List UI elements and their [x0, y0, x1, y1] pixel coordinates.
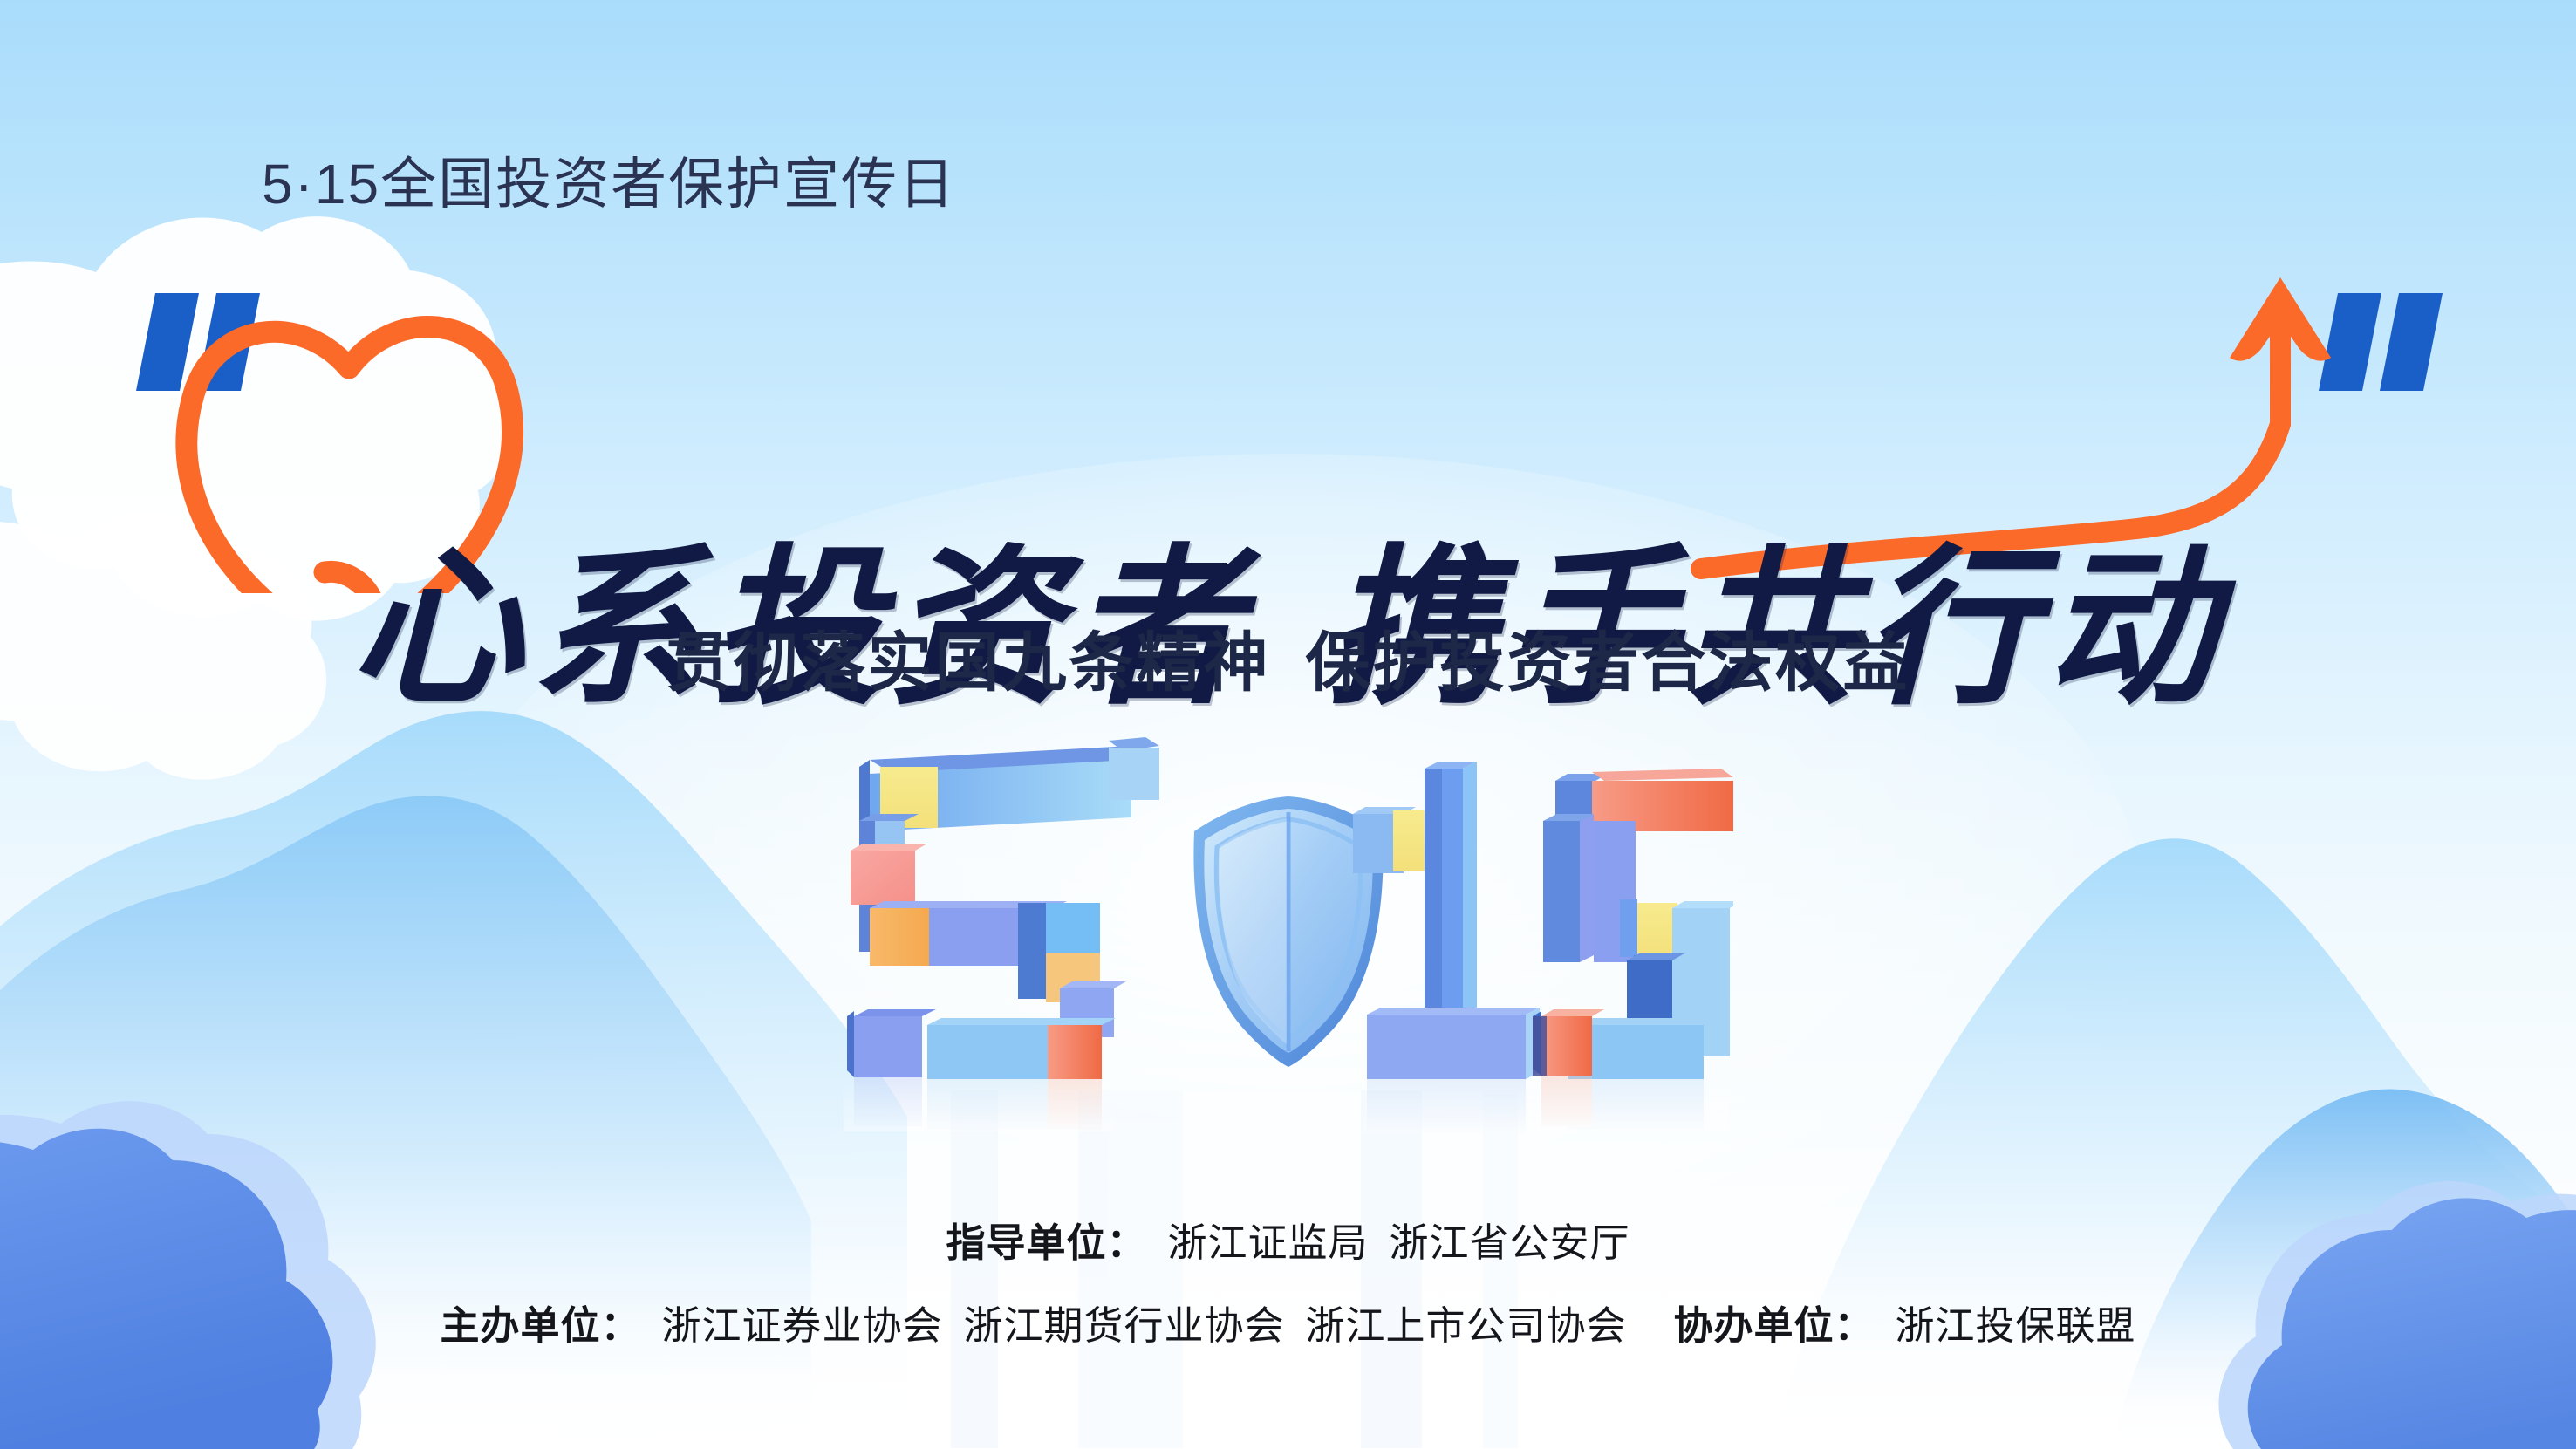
headline-block: 心系投资者携手共行动	[0, 262, 2576, 593]
credit-org-zjpolice: 浙江省公安厅	[1390, 1220, 1630, 1265]
logo-digit-1	[1353, 762, 1543, 1133]
credit-org-futures-assoc: 浙江期货行业协会	[963, 1303, 1284, 1348]
credit-org-zjcsrc: 浙江证监局	[1167, 1220, 1368, 1265]
credit-label-guidance: 指导单位：	[946, 1220, 1146, 1265]
poster-root: 5·15全国投资者保护宣传日	[0, 0, 2576, 1449]
credit-org-listed-companies-assoc: 浙江上市公司协会	[1306, 1303, 1627, 1348]
arrow-up-icon	[1701, 277, 2331, 569]
eyebrow-title: 5·15全国投资者保护宣传日	[262, 140, 956, 220]
subtitle: 贯彻落实国九条精神保护投资者合法权益	[0, 611, 2576, 704]
logo-515-graphic	[844, 737, 1733, 1182]
credit-line-organizers: 主办单位：浙江证券业协会浙江期货行业协会浙江上市公司协会协办单位：浙江投保联盟	[0, 1294, 2576, 1350]
credit-org-investor-protection-alliance: 浙江投保联盟	[1896, 1303, 2136, 1348]
credits-block: 指导单位：浙江证监局浙江省公安厅 主办单位：浙江证券业协会浙江期货行业协会浙江上…	[0, 1211, 2576, 1350]
logo-515	[844, 737, 1733, 1182]
credit-label-host: 主办单位：	[440, 1303, 640, 1348]
credit-line-guidance: 指导单位：浙江证监局浙江省公安厅	[0, 1211, 2576, 1268]
logo-digit-5-left	[844, 737, 1159, 1131]
logo-digit-5-right	[1529, 769, 1733, 1131]
credit-org-securities-assoc: 浙江证券业协会	[661, 1303, 942, 1348]
subtitle-left: 贯彻落实国九条精神	[666, 626, 1271, 699]
quote-close-icon	[2319, 293, 2443, 391]
subtitle-right: 保护投资者合法权益	[1306, 626, 1910, 699]
poster-content: 5·15全国投资者保护宣传日	[0, 0, 2576, 1449]
credit-label-cohost: 协办单位：	[1674, 1303, 1875, 1348]
